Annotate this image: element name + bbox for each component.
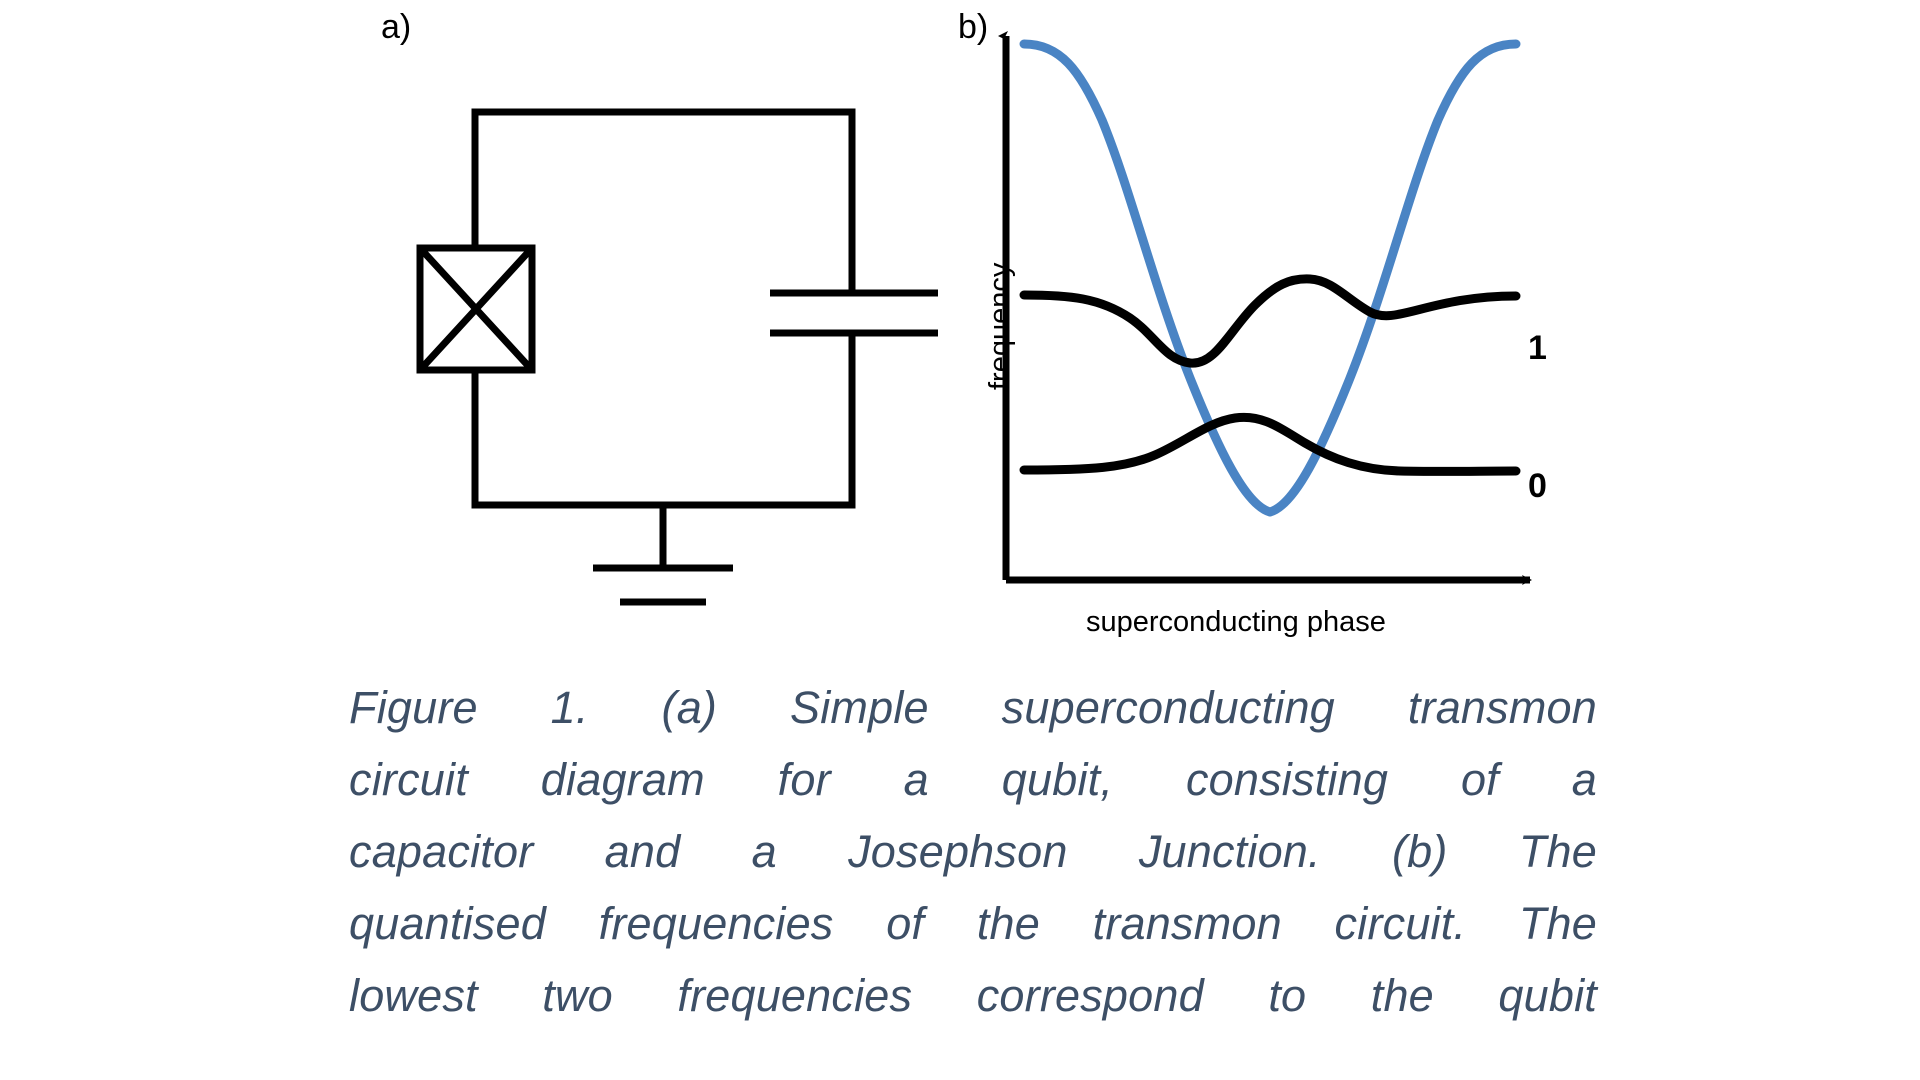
josephson-junction-icon	[420, 248, 532, 370]
figure-container: a)	[0, 0, 1920, 1080]
caption-line: lowest two frequencies correspond to the…	[349, 960, 1597, 1032]
quantised-frequency-plot	[950, 0, 1590, 660]
potential-well-curve	[1024, 44, 1516, 512]
level-label-excited: 1	[1528, 331, 1547, 365]
level-0-curve	[1024, 417, 1516, 471]
caption-line: circuit diagram for a qubit, consisting …	[349, 744, 1597, 816]
ground-icon	[593, 505, 733, 602]
transmon-circuit-diagram	[380, 0, 940, 650]
figure-caption: Figure 1. (a) Simple superconducting tra…	[349, 672, 1597, 1032]
level-1-curve	[1024, 279, 1516, 363]
caption-line: Figure 1. (a) Simple superconducting tra…	[349, 672, 1597, 744]
x-axis-title: superconducting phase	[1086, 608, 1386, 637]
level-label-ground: 0	[1528, 469, 1547, 503]
capacitor-icon	[770, 293, 938, 333]
caption-line: quantised frequencies of the transmon ci…	[349, 888, 1597, 960]
y-axis-title: frequency	[986, 263, 1015, 390]
caption-line: capacitor and a Josephson Junction. (b) …	[349, 816, 1597, 888]
